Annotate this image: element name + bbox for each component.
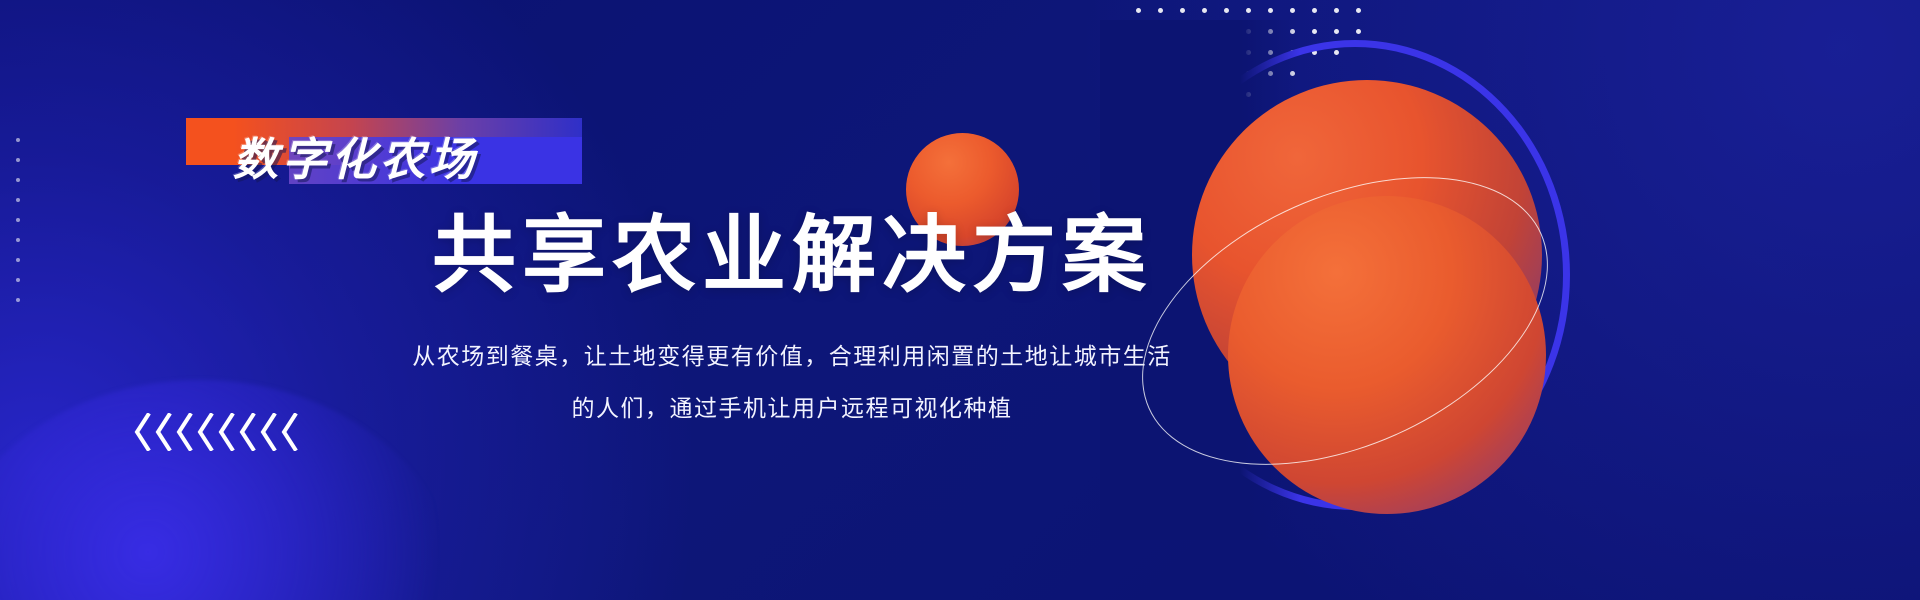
badge: 数字化农场 — [186, 118, 582, 184]
left-dot — [16, 298, 20, 302]
left-dot — [16, 138, 20, 142]
chevron-left-icon — [238, 413, 257, 451]
hero-banner: 数字化农场 共享农业解决方案 从农场到餐桌，让土地变得更有价值，合理利用闲置的土… — [0, 0, 1920, 600]
grid-dot — [1136, 8, 1141, 13]
left-dot-column — [16, 138, 20, 302]
chevron-left-icon — [175, 413, 194, 451]
left-dot — [16, 258, 20, 262]
grid-dot — [1312, 8, 1317, 13]
left-dot — [16, 218, 20, 222]
grid-dot — [1356, 29, 1361, 34]
grid-dot — [1158, 8, 1163, 13]
subtitle-line-2: 的人们，通过手机让用户远程可视化种植 — [352, 382, 1232, 434]
chevron-left-icon — [154, 413, 173, 451]
left-dot — [16, 198, 20, 202]
left-dot — [16, 278, 20, 282]
grid-dot — [1290, 8, 1295, 13]
grid-dot — [1268, 8, 1273, 13]
left-dot — [16, 178, 20, 182]
page-title: 共享农业解决方案 — [432, 196, 1172, 300]
chevron-left-icon — [217, 413, 236, 451]
grid-dot — [1356, 8, 1361, 13]
left-dot — [16, 238, 20, 242]
chevron-left-icon — [259, 413, 278, 451]
grid-dot — [1180, 8, 1185, 13]
grid-dot — [1246, 8, 1251, 13]
chevron-left-icon — [280, 413, 299, 451]
badge-label: 数字化农场 — [233, 127, 583, 183]
grid-dot — [1334, 29, 1339, 34]
chevron-left-icon — [196, 413, 215, 451]
grid-dot — [1202, 8, 1207, 13]
subtitle-line-1: 从农场到餐桌，让土地变得更有价值，合理利用闲置的土地让城市生活 — [352, 330, 1232, 382]
subtitle: 从农场到餐桌，让土地变得更有价值，合理利用闲置的土地让城市生活 的人们，通过手机… — [352, 330, 1232, 434]
chevron-left-group — [133, 413, 299, 451]
grid-dot — [1224, 8, 1229, 13]
grid-dot — [1334, 8, 1339, 13]
grid-dot — [1312, 29, 1317, 34]
chevron-left-icon — [133, 413, 152, 451]
left-dot — [16, 158, 20, 162]
